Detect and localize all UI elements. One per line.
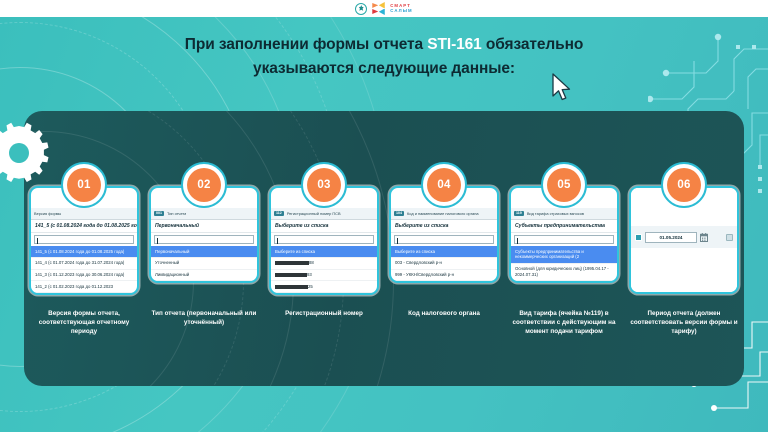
brand-bar: СМАРТ САЛЫМ — [0, 0, 768, 17]
list-item[interactable]: Субъекты предпринимательства и некоммерч… — [511, 246, 617, 264]
mouse-cursor — [551, 73, 573, 103]
list-item-suffix: 88 — [309, 260, 314, 265]
title-part-2: обязательно — [482, 36, 584, 53]
caption-02: Тип отчета (первоначальный или уточнённы… — [144, 309, 264, 336]
list-item[interactable]: 93 — [271, 270, 377, 282]
caption-03: Регистрационный номер — [264, 309, 384, 336]
field-label-01: Версия формы — [34, 211, 61, 216]
list-item[interactable]: Первоначальный — [151, 246, 257, 258]
field-value-02[interactable]: Первоначальный — [151, 220, 257, 233]
date-row: 01.05.2024 — [631, 226, 737, 248]
step-badge-03: 03 — [301, 162, 347, 208]
card-03: 03 112 Регистрационный номер ПСВ Выберит… — [264, 162, 384, 377]
page-title-line-2: указываются следующие данные: — [0, 57, 768, 81]
step-badge-05: 05 — [541, 162, 587, 208]
list-item[interactable]: 999 - УККН/Свердловский р-н — [391, 270, 497, 282]
step-badge-02: 02 — [181, 162, 227, 208]
card-04: 04 104 Код и наименование налогового орг… — [384, 162, 504, 377]
list-item-suffix: 25 — [308, 284, 313, 289]
step-badge-01: 01 — [61, 162, 107, 208]
field-code-04: 104 — [394, 211, 404, 217]
list-item[interactable]: Выберите из списка — [271, 246, 377, 258]
brand-name: СМАРТ САЛЫМ — [390, 4, 412, 13]
step-badge-06: 06 — [661, 162, 707, 208]
field-header-02: 001 Тип отчета — [151, 208, 257, 220]
field-label-05: Вид тарифа страховых взносов — [527, 211, 584, 216]
emblem-icon — [355, 3, 367, 15]
caption-06: Период отчета (должен соответствовать ве… — [624, 309, 744, 336]
list-item[interactable]: 141_5 (с 01.08.2024 года до 01.08.2025 г… — [31, 246, 137, 258]
list-item[interactable]: 88 — [271, 258, 377, 270]
list-item[interactable]: 25 — [271, 281, 377, 293]
page-title: При заполнении формы отчета STI-161 обяз… — [0, 33, 768, 81]
list-item[interactable]: Ликвидационный — [151, 270, 257, 282]
field-header-03: 112 Регистрационный номер ПСВ — [271, 208, 377, 220]
page-title-line-1: При заполнении формы отчета STI-161 обяз… — [0, 33, 768, 57]
list-item[interactable]: 003 - Свердловский р-н — [391, 258, 497, 270]
field-marker-icon — [635, 234, 642, 241]
panel-toggle-icon[interactable] — [726, 234, 733, 241]
calendar-icon[interactable] — [700, 233, 708, 242]
search-input-01[interactable] — [34, 235, 134, 244]
field-code-05: 119 — [514, 211, 524, 217]
list-item[interactable]: Выберите из списка — [391, 246, 497, 258]
field-label-04: Код и наименование налогового органа — [407, 211, 479, 216]
caption-01: Версия формы отчета, соответствующая отч… — [24, 309, 144, 336]
step-number-02: 02 — [187, 168, 221, 202]
step-number-05: 05 — [547, 168, 581, 202]
list-item[interactable]: Основной (для юридических лиц) (1995.04.… — [511, 264, 617, 282]
caption-04: Код налогового органа — [384, 309, 504, 336]
field-value-03[interactable]: Выберите из списка — [271, 220, 377, 233]
field-value-05[interactable]: Субъекты предпринимательства — [511, 220, 617, 233]
search-input-03[interactable] — [274, 235, 374, 244]
list-item[interactable]: 141_2 (с 01.02.2023 года до 01.12.2023 — [31, 281, 137, 293]
search-input-04[interactable] — [394, 235, 494, 244]
search-input-05[interactable] — [514, 235, 614, 244]
search-input-02[interactable] — [154, 235, 254, 244]
list-item[interactable]: 141_3 (с 01.12.2023 года до 30.06.2024 г… — [31, 270, 137, 282]
field-value-01[interactable]: 141_5 (с 01.08.2024 года до 01.08.2025 г… — [31, 220, 137, 233]
list-item[interactable]: 141_4 (с 01.07.2024 года до 31.07.2024 г… — [31, 258, 137, 270]
field-label-03: Регистрационный номер ПСВ — [287, 211, 341, 216]
card-01: 01 Версия формы 141_5 (с 01.08.2024 года… — [24, 162, 144, 377]
field-header-04: 104 Код и наименование налогового органа — [391, 208, 497, 220]
step-badge-04: 04 — [421, 162, 467, 208]
brand-line-2: САЛЫМ — [390, 9, 412, 14]
cards-row: 01 Версия формы 141_5 (с 01.08.2024 года… — [24, 162, 744, 377]
field-header-05: 119 Вид тарифа страховых взносов — [511, 208, 617, 220]
list-item[interactable]: Уточненный — [151, 258, 257, 270]
smart-salym-logo-icon — [372, 2, 385, 15]
field-code-02: 001 — [154, 211, 164, 217]
step-number-04: 04 — [427, 168, 461, 202]
step-number-01: 01 — [67, 168, 101, 202]
card-02: 02 001 Тип отчета Первоначальный Первона… — [144, 162, 264, 377]
step-number-06: 06 — [667, 168, 701, 202]
captions-row: Версия формы отчета, соответствующая отч… — [24, 309, 744, 336]
card-05: 05 119 Вид тарифа страховых взносов Субъ… — [504, 162, 624, 377]
field-value-04[interactable]: Выберите из списка — [391, 220, 497, 233]
caption-05: Вид тарифа (ячейка №119) в соответствии … — [504, 309, 624, 336]
field-header-01: Версия формы — [31, 208, 137, 220]
step-number-03: 03 — [307, 168, 341, 202]
title-highlight: STI-161 — [427, 36, 481, 53]
gear-icon — [0, 122, 50, 184]
field-code-03: 112 — [274, 211, 284, 217]
list-item-suffix: 93 — [307, 272, 312, 277]
slide-stage: При заполнении формы отчета STI-161 обяз… — [0, 17, 768, 432]
title-part-1: При заполнении формы отчета — [185, 36, 427, 53]
period-date-input[interactable]: 01.05.2024 — [645, 232, 697, 243]
card-06: 06 01.05.2024 — [624, 162, 744, 377]
field-label-02: Тип отчета — [167, 211, 186, 216]
